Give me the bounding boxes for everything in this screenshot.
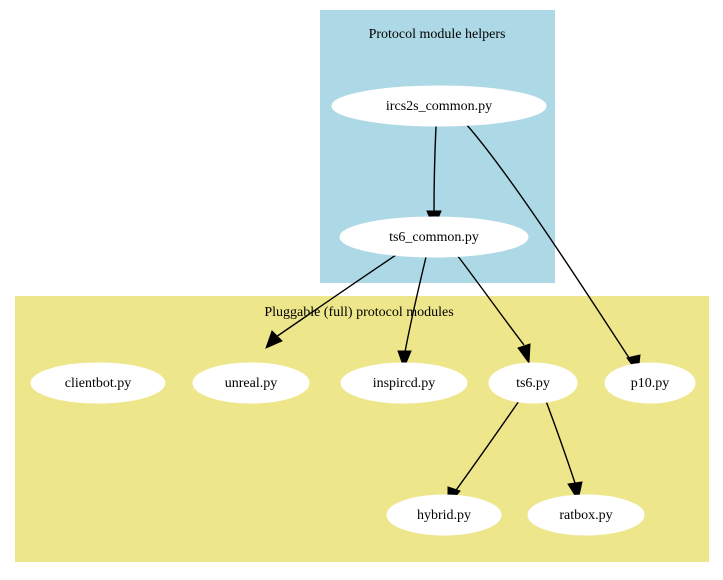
node-ratbox[interactable]: ratbox.py xyxy=(528,495,644,535)
node-ts6[interactable]: ts6.py xyxy=(489,363,577,403)
node-clientbot[interactable]: clientbot.py xyxy=(31,363,165,403)
node-ircs2s_common[interactable]: ircs2s_common.py xyxy=(332,86,546,126)
node-unreal[interactable]: unreal.py xyxy=(193,363,309,403)
node-hybrid[interactable]: hybrid.py xyxy=(387,495,501,535)
node-ircs2s_common-label: ircs2s_common.py xyxy=(386,99,492,114)
node-ratbox-label: ratbox.py xyxy=(559,508,612,523)
node-unreal-label: unreal.py xyxy=(225,376,277,391)
protocol-module-graph: Protocol module helpers Pluggable (full)… xyxy=(0,0,723,580)
cluster-modules-label: Pluggable (full) protocol modules xyxy=(264,305,453,320)
node-hybrid-label: hybrid.py xyxy=(417,508,471,523)
node-inspircd[interactable]: inspircd.py xyxy=(341,363,467,403)
node-ts6-label: ts6.py xyxy=(516,376,550,391)
node-clientbot-label: clientbot.py xyxy=(65,376,132,391)
node-p10-label: p10.py xyxy=(631,376,670,391)
cluster-helpers-label: Protocol module helpers xyxy=(369,27,506,42)
node-inspircd-label: inspircd.py xyxy=(373,376,436,391)
diagram-canvas: Protocol module helpers Pluggable (full)… xyxy=(0,0,723,580)
node-p10[interactable]: p10.py xyxy=(605,363,695,403)
node-ts6_common-label: ts6_common.py xyxy=(389,230,479,245)
node-ts6_common[interactable]: ts6_common.py xyxy=(340,217,528,257)
